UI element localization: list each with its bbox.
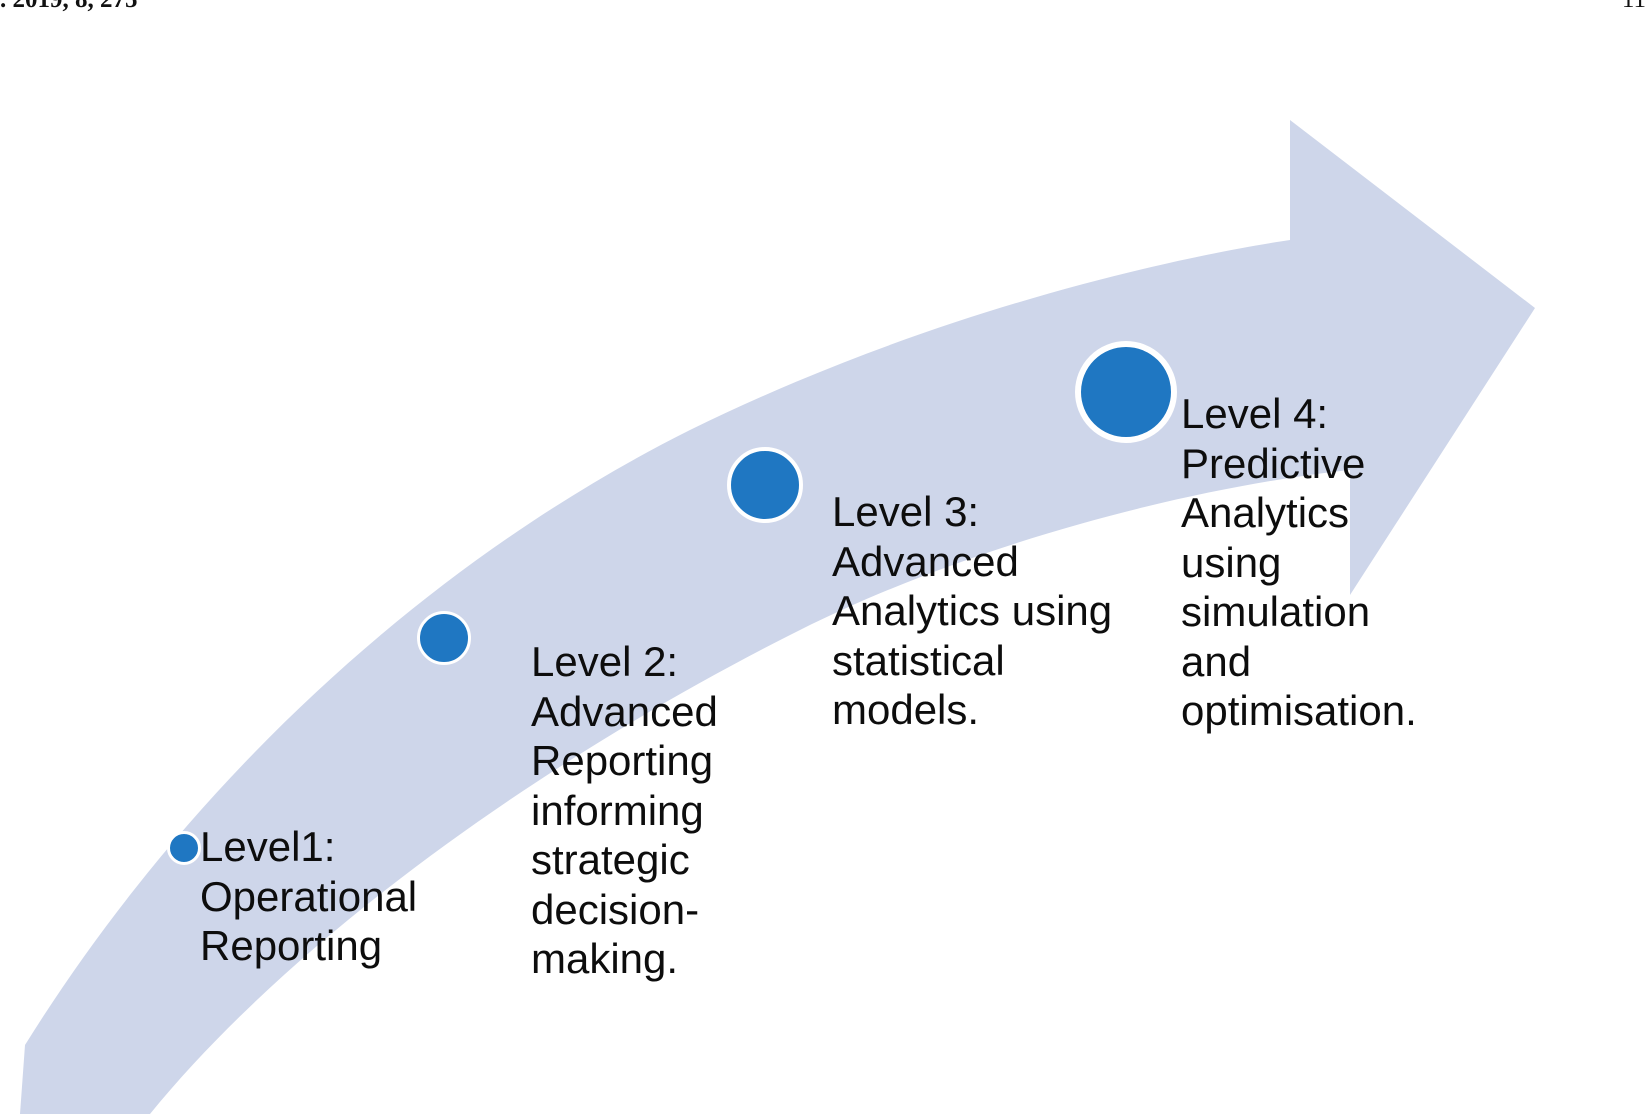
figure-page: . 2019, 8, 275 11 Level1: Operational Re… (0, 0, 1650, 1114)
node-circle-level-4[interactable] (1075, 341, 1177, 443)
node-label-level-3: Level 3: Advanced Analytics using statis… (832, 487, 1112, 735)
node-label-level-2: Level 2: Advanced Reporting informing st… (531, 637, 718, 984)
node-label-level-4: Level 4: Predictive Analytics using simu… (1181, 389, 1417, 736)
node-circle-level-3[interactable] (727, 447, 803, 523)
node-circle-level-2[interactable] (417, 611, 471, 665)
node-circle-level-1[interactable] (167, 831, 201, 865)
node-label-level-1: Level1: Operational Reporting (200, 822, 417, 971)
